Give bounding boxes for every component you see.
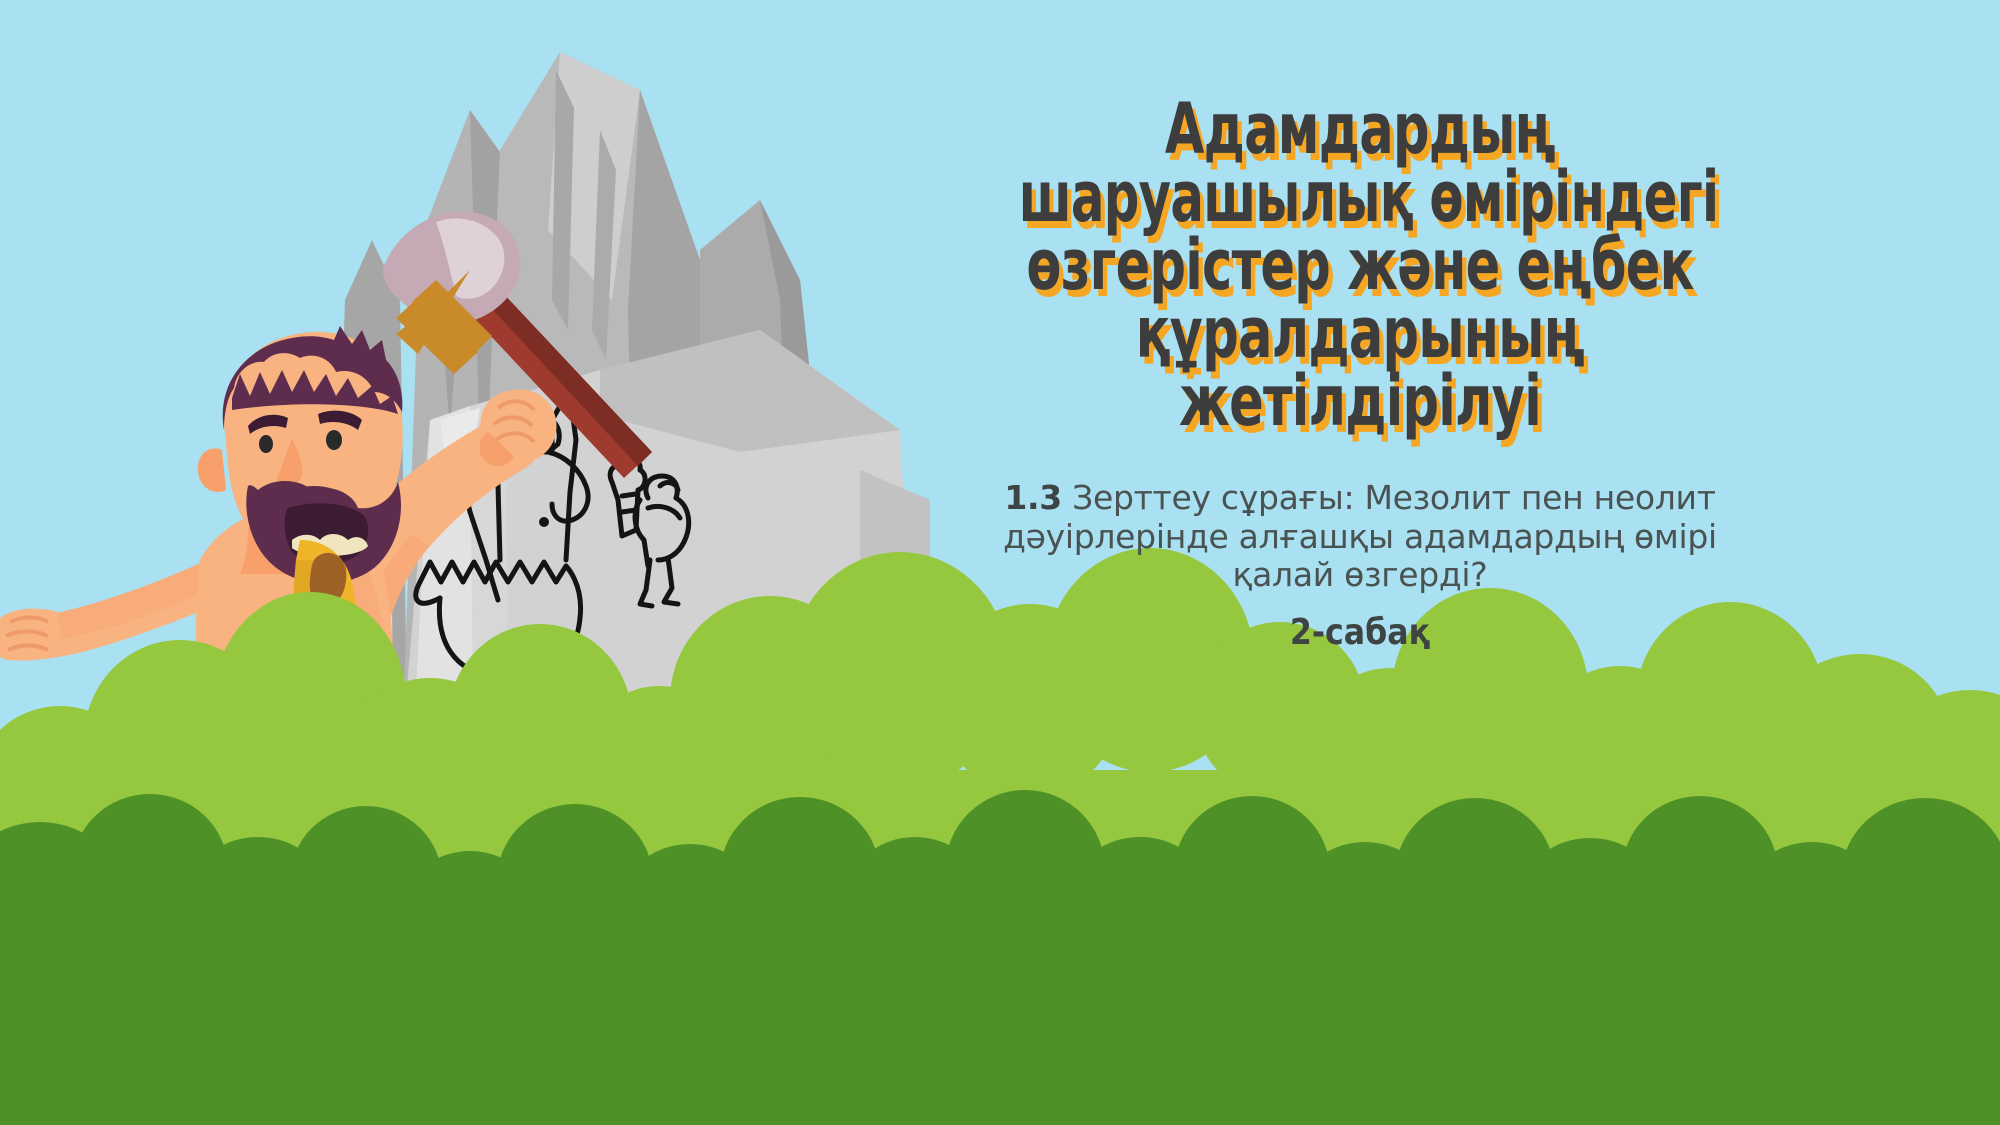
question-number: 1.3 xyxy=(1004,478,1062,517)
title-line-1: Адамдардың xyxy=(1010,96,1710,164)
title-line-5: жетілдірілуі xyxy=(1010,368,1710,436)
question-text: Зерттеу сұрағы: Мезолит пен неолит дәуір… xyxy=(1003,478,1717,594)
title-line-2: шаруашылық өміріндегі xyxy=(1019,164,1702,232)
text-block: Адамдардың шаруашылық өміріндегі өзгеріс… xyxy=(880,96,1840,653)
title-line-4: құралдарының xyxy=(1010,300,1710,368)
lesson-label: 2-сабақ xyxy=(938,612,1783,653)
slide-canvas: Адамдардың шаруашылық өміріндегі өзгеріс… xyxy=(0,0,2000,1125)
title-line-3: өзгерістер және еңбек xyxy=(1010,232,1710,300)
research-question: 1.3 Зерттеу сұрағы: Мезолит пен неолит д… xyxy=(1000,479,1720,594)
